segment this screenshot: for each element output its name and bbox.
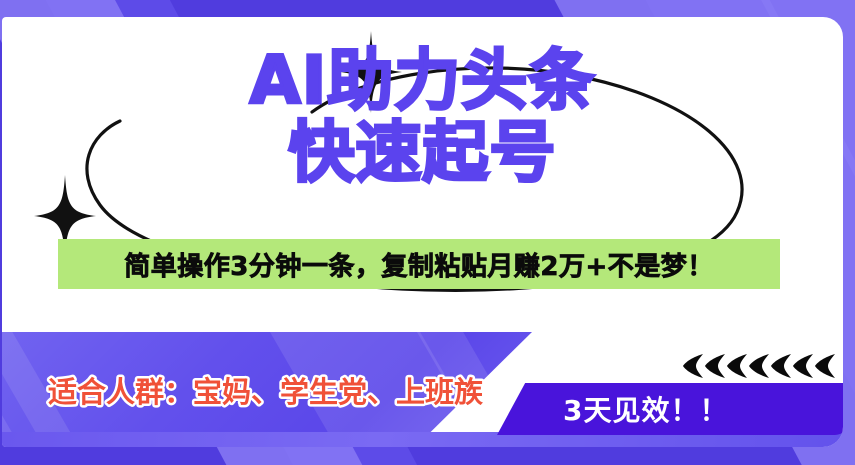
green-banner-text: 简单操作3分钟一条，复制粘贴月赚2万+不是梦！ — [124, 246, 713, 283]
audience-panel — [2, 332, 532, 447]
cta-text: 3天见效！！ — [563, 389, 728, 429]
left-chevron-icon — [748, 353, 770, 379]
left-chevron-icon — [682, 353, 704, 379]
headline: AI助力头条 快速起号 — [2, 45, 843, 189]
green-highlight-banner: 简单操作3分钟一条，复制粘贴月赚2万+不是梦！ — [58, 239, 780, 289]
headline-line-2: 快速起号 — [2, 117, 843, 189]
left-chevron-icon — [726, 353, 748, 379]
left-chevron-icon — [770, 353, 792, 379]
left-chevron-icon — [792, 353, 814, 379]
promo-poster: AI助力头条 快速起号 简单操作3分钟一条，复制粘贴月赚2万+不是梦！ — [0, 0, 855, 465]
white-card: AI助力头条 快速起号 简单操作3分钟一条，复制粘贴月赚2万+不是梦！ — [2, 17, 843, 447]
left-chevron-icon — [814, 353, 836, 379]
headline-line-1: AI助力头条 — [2, 45, 843, 117]
cta-bar[interactable]: 3天见效！！ — [497, 383, 843, 435]
left-chevron-icon — [704, 353, 726, 379]
panel-stripe — [2, 332, 135, 447]
panel-stripe — [261, 332, 532, 447]
chevron-row — [682, 353, 836, 379]
